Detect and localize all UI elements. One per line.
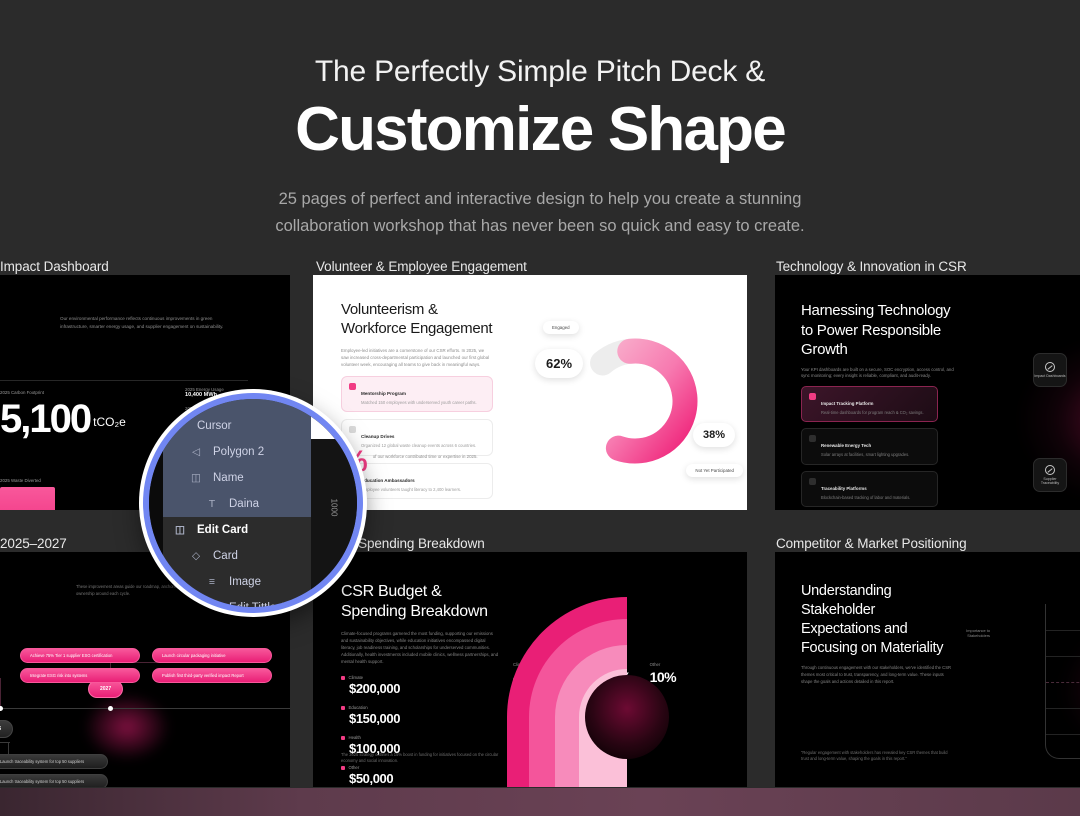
budget-legend-education: Education $150,000 [341, 705, 516, 726]
impact-description: Our environmental performance reflects c… [60, 315, 240, 330]
frame-icon: ◫ [173, 524, 187, 536]
matrix-axis-label: Importance to Stakeholders [938, 628, 990, 639]
technology-heading-line-2: to Power Responsible [801, 321, 981, 341]
technology-item-renewable-energy[interactable]: Renewable Energy Tech Solar arrays at fa… [801, 428, 938, 464]
donut-label-not-participated: Not Yet Participated [686, 464, 743, 477]
technology-item-desc: Solar arrays at facilities, smart lighti… [821, 452, 909, 458]
technology-item-title: Traceability Platforms [821, 486, 867, 491]
competitor-materiality-matrix: ESG [1045, 604, 1080, 759]
impact-bar-label: 2025 Waste Diverted [0, 478, 55, 483]
slide-budget-breakdown[interactable]: CSR Budget & Spending Breakdown Climate-… [313, 552, 747, 787]
technology-item-desc: Blockchain-based tracking of labor and m… [821, 495, 910, 501]
layer-label: Edit Card [197, 524, 248, 536]
magnifier-side-value: 1000 [330, 499, 339, 517]
budget-legend-label: Education [349, 705, 368, 710]
impact-energy-2025: 2025 Energy Usage 10,400 MWh [185, 387, 224, 398]
volunteer-heading-line-1: Volunteerism & [341, 301, 719, 320]
arc-core [585, 675, 669, 759]
roadmap-glow [82, 692, 172, 762]
matrix-axis-label-line-2: Stakeholders [938, 633, 990, 638]
layer-row-card[interactable]: ◇ Card [163, 543, 311, 569]
caption-impact-dashboard: Impact Dashboard [0, 259, 109, 274]
bottom-color-band [0, 788, 1080, 816]
technology-paragraph: Your KPI dashboards are built on a secur… [801, 367, 956, 381]
budget-legend-label: Other [349, 765, 360, 770]
layer-label: Daina [229, 498, 259, 510]
budget-paragraph: Climate-focused programs garnered the mo… [341, 630, 501, 665]
volunteer-item-title: Mentorship Program [361, 391, 406, 396]
technology-item-desc: Real-time dashboards for program reach &… [821, 410, 924, 416]
layer-row-polygon-2[interactable]: ◁ Polygon 2 [163, 439, 311, 465]
impact-footprint-value: 5,100 [0, 397, 90, 441]
roadmap-pill-upper-3[interactable]: Launch circular packaging initiative [152, 648, 272, 663]
magnifier-left-edge [149, 399, 163, 607]
budget-legend-label: Climate [349, 675, 364, 680]
technology-slide-content: Harnessing Technology to Power Responsib… [801, 301, 981, 510]
gear-icon [1045, 465, 1055, 475]
roadmap-timeline-dot-2026 [0, 706, 3, 711]
legend-dot-other [341, 766, 345, 770]
magnifier-content: 1000 Cursor ◁ Polygon 2 ◫ Name T Daina ◫… [149, 399, 357, 607]
roadmap-pill-lower-2[interactable]: Launch traceability system for top 50 su… [0, 754, 108, 769]
budget-legend-amount: $50,000 [349, 771, 516, 786]
layer-row-name[interactable]: ◫ Name [163, 465, 311, 491]
volunteer-item-mentorship[interactable]: Mentorship Program Matched 150 employees… [341, 376, 493, 412]
technology-item-title: Impact Tracking Platform [821, 401, 873, 406]
impact-tracking-icon [809, 393, 816, 400]
layer-label: Polygon 2 [213, 446, 264, 458]
legend-dot-health [341, 736, 345, 740]
impact-footprint-block: 2025 Carbon Footprint 5,100tCO₂e [0, 390, 126, 439]
volunteer-slide-content: Volunteerism & Workforce Engagement Empl… [313, 275, 747, 510]
roadmap-pill-upper-2[interactable]: Achieve 75% Tier 1 supplier ESG certific… [20, 648, 140, 663]
roadmap-timeline-axis [0, 708, 290, 709]
donut-svg [561, 327, 709, 475]
layers-panel-top-fill [163, 399, 311, 413]
budget-legend-amount: $200,000 [349, 681, 516, 696]
mentorship-icon [349, 383, 356, 390]
magnifier-white-peek [311, 399, 357, 439]
technology-item-impact-tracking[interactable]: Impact Tracking Platform Real-time dashb… [801, 386, 938, 422]
budget-concentric-arcs [507, 597, 747, 787]
budget-legend-climate: Climate $200,000 [341, 675, 516, 696]
slide-volunteer-engagement[interactable]: Volunteerism & Workforce Engagement Empl… [313, 275, 747, 510]
technology-node-label: Supplier Traceability [1034, 477, 1066, 486]
hero-title: Customize Shape [0, 96, 1080, 164]
slide-technology-innovation[interactable]: Harnessing Technology to Power Responsib… [775, 275, 1080, 510]
caption-technology-innovation: Technology & Innovation in CSR [776, 259, 967, 274]
technology-node-supplier-traceability[interactable]: Supplier Traceability [1033, 458, 1067, 492]
technology-heading-line-1: Harnessing Technology [801, 301, 981, 321]
layer-label: Image [229, 576, 261, 588]
volunteer-donut-chart: Engaged 62% 38% Not Yet Participated [561, 327, 709, 475]
roadmap-timeline-dot-2027 [108, 706, 113, 711]
competitor-heading-line-2: Stakeholder [801, 601, 976, 620]
roadmap-pill-upper-5[interactable]: Integrate ESG risk into systems [20, 668, 140, 683]
matrix-gridline [1046, 734, 1080, 735]
roadmap-connector [0, 678, 1, 706]
budget-legend-label: Health [349, 735, 361, 740]
budget-legend-other: Other $50,000 [341, 765, 516, 786]
donut-label-engaged: Engaged [543, 321, 579, 334]
roadmap-year-2026[interactable]: 2026 [0, 720, 13, 738]
layer-row-daina[interactable]: T Daina [163, 491, 311, 517]
impact-energy-value: 10,400 MWh [185, 392, 224, 398]
donut-value-not-participated: 38% [693, 423, 735, 447]
layer-row-cursor[interactable]: Cursor [163, 413, 311, 439]
layers-panel: Cursor ◁ Polygon 2 ◫ Name T Daina ◫ Edit… [163, 399, 311, 613]
competitor-heading-line-4: Focusing on Materiality [801, 639, 976, 658]
legend-dot-climate [341, 676, 345, 680]
impact-footprint-label: 2025 Carbon Footprint [0, 390, 126, 395]
roadmap-pill-upper-6[interactable]: Publish first third-party verified impac… [152, 668, 272, 683]
impact-bar-chart: 2025 Waste Diverted 71% 2024 Waste Diver… [0, 478, 158, 510]
traceability-icon [809, 478, 816, 485]
impact-bar-2025: 2025 Waste Diverted 71% [0, 478, 55, 510]
matrix-gridline [1046, 630, 1080, 631]
impact-footprint-unit: tCO₂e [93, 415, 126, 429]
renewable-energy-icon [809, 435, 816, 442]
hero-subtitle: 25 pages of perfect and interactive desi… [0, 186, 1080, 240]
polygon-icon: ◁ [189, 446, 203, 458]
donut-value-engaged: 62% [535, 349, 583, 378]
text-icon: T [205, 498, 219, 510]
competitor-quote: “Regular engagement with stakeholders ha… [801, 750, 951, 763]
matrix-gridline [1046, 708, 1080, 709]
layer-row-image[interactable]: ≡ Image [163, 569, 311, 595]
matrix-gridline [1046, 656, 1080, 657]
matrix-threshold-line [1046, 682, 1080, 683]
layer-label: Name [213, 472, 244, 484]
hero-kicker: The Perfectly Simple Pitch Deck & [0, 0, 1080, 90]
hero-subtitle-line-2: collaboration workshop that has never be… [0, 213, 1080, 240]
layer-label: Cursor [197, 420, 232, 432]
diamond-icon: ◇ [189, 550, 203, 562]
circle-slash-icon [1045, 362, 1055, 372]
volunteer-item-title: Education Ambassadors [361, 478, 415, 483]
hero-section: The Perfectly Simple Pitch Deck & Custom… [0, 0, 1080, 250]
impact-divider [0, 380, 248, 381]
layer-row-edit-card[interactable]: ◫ Edit Card [163, 517, 311, 543]
budget-legend: Climate $200,000 Education $150,000 Heal… [341, 675, 516, 786]
volunteer-item-desc: Matched 150 employees with underserved y… [361, 400, 477, 406]
technology-heading-line-3: Growth [801, 340, 981, 360]
legend-dot-education [341, 706, 345, 710]
caption-volunteer-engagement: Volunteer & Employee Engagement [316, 259, 527, 274]
volunteer-stat: % of our workforce contributed time or e… [341, 449, 478, 475]
roadmap-connector [8, 742, 9, 754]
volunteer-item-title: Cleanup Drives [361, 434, 394, 439]
budget-footnote: The 2025 strategy outlines a 15% boost i… [341, 752, 501, 765]
volunteer-item-desc: Employee volunteers taught literacy to 2… [361, 487, 461, 493]
technology-item-title: Renewable Energy Tech [821, 443, 871, 448]
volunteer-paragraph: Employee-led initiatives are a cornersto… [341, 347, 491, 369]
image-icon: ≡ [205, 576, 219, 588]
slide-competitor-positioning[interactable]: Understanding Stakeholder Expectations a… [775, 552, 1080, 787]
hero-subtitle-line-1: 25 pages of perfect and interactive desi… [0, 186, 1080, 213]
budget-legend-amount: $150,000 [349, 711, 516, 726]
technology-item-traceability[interactable]: Traceability Platforms Blockchain-based … [801, 471, 938, 507]
technology-node-impact-dashboards[interactable]: Impact Dashboards [1033, 353, 1067, 387]
competitor-paragraph: Through continuous engagement with our s… [801, 665, 953, 686]
budget-heading-line-2: Spending Breakdown [341, 602, 516, 622]
magnifier-loupe: 1000 Cursor ◁ Polygon 2 ◫ Name T Daina ◫… [143, 393, 363, 613]
caption-competitor-positioning: Competitor & Market Positioning [776, 536, 966, 551]
competitor-heading-line-1: Understanding [801, 582, 976, 601]
caption-roadmap: 2025–2027 [0, 536, 67, 551]
frame-icon: ◫ [189, 472, 203, 484]
technology-node-label: Impact Dashboards [1034, 374, 1065, 378]
impact-bar-fill-pink [0, 487, 55, 510]
layer-label: Card [213, 550, 238, 562]
roadmap-pill-lower-4[interactable]: Launch traceability system for top 50 su… [0, 774, 108, 787]
volunteer-stat-text: of our workforce contributed time or exp… [373, 449, 478, 460]
budget-heading-line-1: CSR Budget & [341, 582, 516, 602]
roadmap-connector [0, 742, 10, 743]
